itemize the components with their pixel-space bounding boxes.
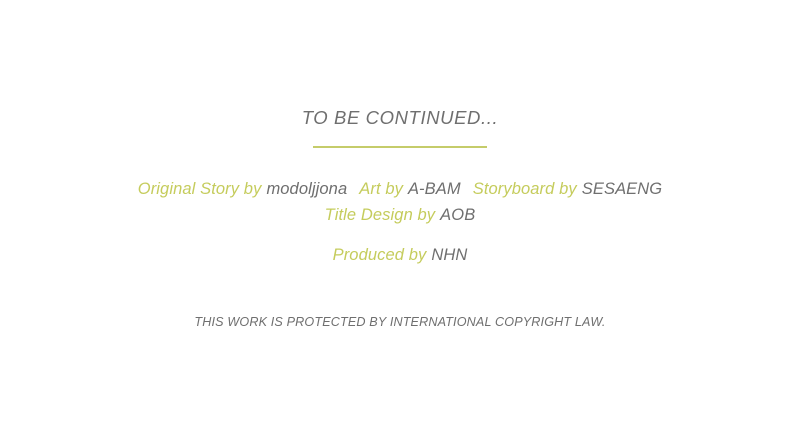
credits-line-produced: Produced byNHN [0,242,800,268]
role-storyboard: Storyboard by [473,180,577,198]
end-card: TO BE CONTINUED... Original Story bymodo… [0,0,800,426]
copyright-block: THIS WORK IS PROTECTED BY INTERNATIONAL … [0,313,800,331]
copyright-notice: THIS WORK IS PROTECTED BY INTERNATIONAL … [194,313,605,331]
divider [0,146,800,148]
role-art: Art by [359,180,403,198]
credits-line-primary: Original Story bymodoljjonaArt byA-BAMSt… [0,176,800,202]
to-be-continued-text: TO BE CONTINUED... [302,106,499,130]
name-storyboard: SESAENG [582,180,662,198]
role-original-story: Original Story by [138,180,262,198]
to-be-continued-block: TO BE CONTINUED... [0,106,800,130]
credits-line-title-design: Title Design byAOB [0,202,800,228]
name-original-story: modoljjona [266,180,347,198]
name-art: A-BAM [408,180,461,198]
name-title-design: AOB [440,206,475,224]
credits-block: Original Story bymodoljjonaArt byA-BAMSt… [0,176,800,268]
name-produced: NHN [431,246,467,264]
role-produced: Produced by [333,246,427,264]
role-title-design: Title Design by [325,206,435,224]
divider-rule [313,146,487,148]
